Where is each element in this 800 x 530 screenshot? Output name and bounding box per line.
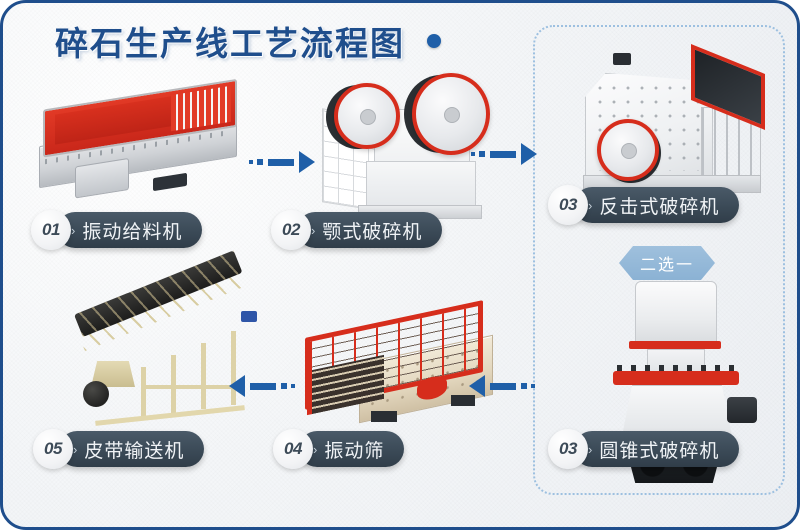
step-label-02[interactable]: 02 › 颚式破碎机: [271, 212, 442, 248]
step-banner-04: › 振动筛: [299, 431, 404, 467]
chevron-right-icon: ›: [311, 224, 315, 237]
step-number-04: 04: [273, 429, 313, 469]
chevron-right-icon: ›: [313, 443, 317, 456]
step-banner-02: › 颚式破碎机: [297, 212, 442, 248]
step-number-01: 01: [31, 210, 71, 250]
step-name-03-cone: 圆锥式破碎机: [599, 436, 719, 463]
impact-crusher-image: [575, 47, 771, 197]
jaw-crusher-image: [308, 65, 493, 223]
step-banner-01: › 振动给料机: [57, 212, 202, 248]
step-label-03-impact[interactable]: 03 › 反击式破碎机: [548, 187, 739, 223]
page-title: 碎石生产线工艺流程图: [55, 17, 441, 65]
step-label-03-cone[interactable]: 03 › 圆锥式破碎机: [548, 431, 739, 467]
step-label-05[interactable]: 05 › 皮带输送机: [33, 431, 204, 467]
belt-conveyor-image: [75, 309, 275, 429]
step-number-02: 02: [271, 210, 311, 250]
arrow-jaw-to-impact: [471, 143, 537, 165]
step-name-05: 皮带输送机: [84, 436, 184, 463]
step-name-04: 振动筛: [324, 436, 384, 463]
chevron-right-icon: ›: [588, 199, 592, 212]
flowchart-canvas: 碎石生产线工艺流程图: [0, 0, 800, 530]
two-choose-one-label: 二选一: [640, 251, 694, 275]
arrow-cone-to-screen: [469, 375, 535, 397]
chevron-right-icon: ›: [71, 224, 75, 237]
step-number-03-impact: 03: [548, 185, 588, 225]
page-title-text: 碎石生产线工艺流程图: [55, 17, 405, 65]
step-banner-03-impact: › 反击式破碎机: [574, 187, 739, 223]
step-label-04[interactable]: 04 › 振动筛: [273, 431, 404, 467]
two-choose-one-badge: 二选一: [619, 246, 715, 280]
arrow-screen-to-belt: [229, 375, 295, 397]
title-bullet-icon: [427, 34, 441, 48]
arrow-feeder-to-jaw: [249, 151, 315, 173]
step-name-03-impact: 反击式破碎机: [599, 192, 719, 219]
step-number-05: 05: [33, 429, 73, 469]
step-name-01: 振动给料机: [82, 217, 182, 244]
chevron-right-icon: ›: [588, 443, 592, 456]
step-name-02: 颚式破碎机: [322, 217, 422, 244]
step-number-03-cone: 03: [548, 429, 588, 469]
step-label-01[interactable]: 01 › 振动给料机: [31, 212, 202, 248]
chevron-right-icon: ›: [73, 443, 77, 456]
vibrating-screen-image: [299, 315, 499, 427]
step-banner-05: › 皮带输送机: [59, 431, 204, 467]
vibrating-feeder-image: [35, 95, 245, 203]
step-banner-03-cone: › 圆锥式破碎机: [574, 431, 739, 467]
